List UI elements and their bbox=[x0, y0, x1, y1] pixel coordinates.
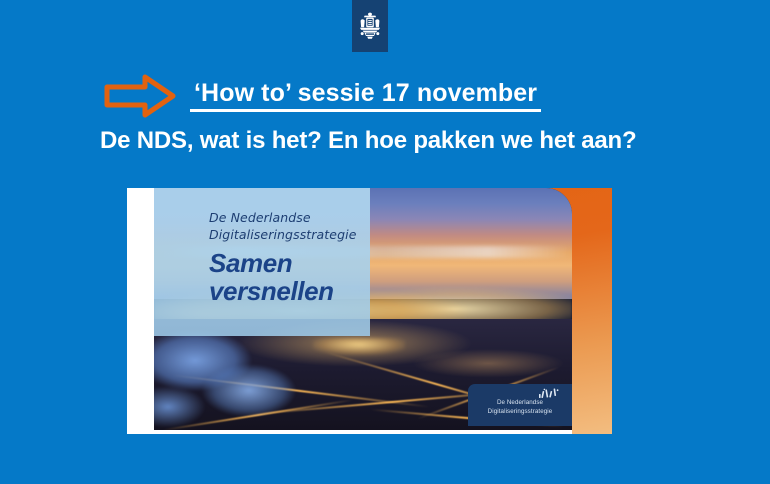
cover-orange-bar bbox=[127, 188, 154, 434]
government-ribbon bbox=[352, 0, 388, 52]
cover-kicker: De Nederlandse Digitaliseringsstrategie bbox=[209, 210, 384, 243]
cover-title-line2: versnellen bbox=[209, 278, 399, 306]
nds-logo-text: De Nederlandse Digitaliseringsstrategie bbox=[468, 399, 572, 417]
page-title: ‘How to’ sessie 17 november bbox=[190, 80, 541, 112]
dutch-coat-of-arms-icon bbox=[357, 11, 383, 41]
nds-logo-box: De Nederlandse Digitaliseringsstrategie bbox=[468, 384, 572, 426]
right-arrow-outline-icon bbox=[104, 74, 176, 118]
page-subtitle: De NDS, wat is het? En hoe pakken we het… bbox=[100, 127, 740, 155]
slide-root: { "background_color": "#0579c8", "brand"… bbox=[0, 0, 770, 484]
cover-title-line1: Samen bbox=[209, 250, 399, 278]
cover-title-panel: De Nederlandse Digitaliseringsstrategie … bbox=[154, 188, 370, 336]
cover-kicker-line1: De Nederlandse bbox=[209, 210, 384, 227]
cover-kicker-line2: Digitaliseringsstrategie bbox=[209, 227, 384, 244]
cover-title: Samen versnellen bbox=[209, 250, 399, 305]
nds-logo-line2: Digitaliseringsstrategie bbox=[468, 408, 572, 417]
nds-logo-line1: De Nederlandse bbox=[468, 399, 572, 408]
brochure-card[interactable]: De Nederlandse Digitaliseringsstrategie … bbox=[127, 188, 612, 434]
headline-row: ‘How to’ sessie 17 november bbox=[104, 72, 704, 120]
